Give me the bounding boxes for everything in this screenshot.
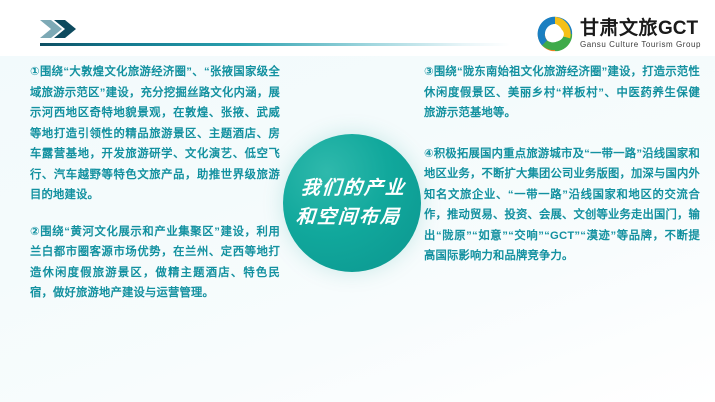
- badge-line-1: 我们的产业: [300, 174, 407, 203]
- logo-wordmark: 甘肃文旅GCT Gansu Culture Tourism Group: [580, 19, 701, 49]
- brand-logo: 甘肃文旅GCT Gansu Culture Tourism Group: [537, 14, 701, 54]
- paragraph-3: ③围绕“陇东南始祖文化旅游经济圈”建设，打造示范性休闲度假景区、美丽乡村“样板村…: [424, 62, 700, 124]
- badge-line-2: 和空间布局: [295, 203, 402, 232]
- paragraph-4: ④积极拓展国内重点旅游城市及“一带一路”沿线国家和地区业务，不断扩大集团公司业务…: [424, 144, 700, 267]
- slide-root: 甘肃文旅GCT Gansu Culture Tourism Group ①围绕“…: [0, 0, 715, 402]
- slide-header: 甘肃文旅GCT Gansu Culture Tourism Group: [0, 0, 715, 56]
- header-gradient-rule: [40, 43, 510, 46]
- double-chevron-right-icon: [40, 19, 86, 39]
- right-text-column: ③围绕“陇东南始祖文化旅游经济圈”建设，打造示范性休闲度假景区、美丽乡村“样板村…: [424, 62, 700, 267]
- logo-subtitle: Gansu Culture Tourism Group: [580, 41, 701, 49]
- left-text-column: ①围绕“大敦煌文化旅游经济圈”、“张掖国家级全域旅游示范区”建设，充分挖掘丝路文…: [30, 62, 280, 304]
- paragraph-1: ①围绕“大敦煌文化旅游经济圈”、“张掖国家级全域旅游示范区”建设，充分挖掘丝路文…: [30, 62, 280, 206]
- logo-title: 甘肃文旅GCT: [580, 19, 701, 38]
- paragraph-2: ②围绕“黄河文化展示和产业集聚区”建设，利用兰白都市圈客源市场优势，在兰州、定西…: [30, 222, 280, 304]
- logo-title-abbr: GCT: [658, 18, 698, 39]
- center-title-badge: 我们的产业 和空间布局: [283, 134, 421, 272]
- logo-title-cn: 甘肃文旅: [580, 18, 658, 39]
- gct-spiral-logo-icon: [537, 16, 573, 52]
